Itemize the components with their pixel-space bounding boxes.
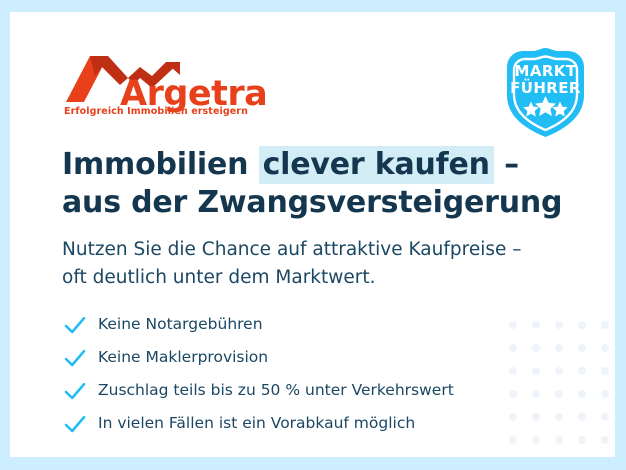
decorative-dot — [532, 321, 540, 329]
decorative-dot — [578, 390, 586, 398]
decorative-dot — [578, 436, 586, 444]
decorative-dot — [601, 436, 609, 444]
list-item: In vielen Fällen ist ein Vorabkauf mögli… — [64, 409, 454, 439]
subheadline: Nutzen Sie die Chance auf attraktive Kau… — [62, 236, 522, 292]
headline-line-2: aus der Zwangsversteigerung — [62, 184, 562, 222]
decorative-dot — [555, 367, 563, 375]
decorative-dot — [509, 344, 517, 352]
dot-grid-decoration — [497, 307, 615, 457]
decorative-dot — [532, 436, 540, 444]
list-item-label: In vielen Fällen ist ein Vorabkauf mögli… — [98, 416, 415, 432]
check-icon — [64, 315, 86, 335]
check-icon — [64, 381, 86, 401]
decorative-dot — [532, 413, 540, 421]
list-item: Zuschlag teils bis zu 50 % unter Verkehr… — [64, 376, 454, 406]
decorative-dot — [509, 436, 517, 444]
decorative-dot — [509, 390, 517, 398]
subheadline-line-2: oft deutlich unter dem Marktwert. — [62, 264, 522, 292]
list-item-label: Keine Notargebühren — [98, 317, 263, 333]
headline-highlight: clever kaufen — [259, 146, 494, 184]
market-leader-badge: MARKT FÜHRER — [497, 45, 594, 140]
decorative-dot — [578, 367, 586, 375]
decorative-dot — [578, 344, 586, 352]
decorative-dot — [555, 413, 563, 421]
decorative-dot — [509, 413, 517, 421]
decorative-dot — [578, 321, 586, 329]
decorative-dot — [509, 321, 517, 329]
decorative-dot — [532, 390, 540, 398]
headline-suffix: – — [494, 147, 519, 182]
decorative-dot — [555, 321, 563, 329]
decorative-dot — [555, 436, 563, 444]
headline-prefix: Immobilien — [62, 147, 259, 182]
decorative-dot — [601, 413, 609, 421]
decorative-dot — [532, 367, 540, 375]
subheadline-line-1: Nutzen Sie die Chance auf attraktive Kau… — [62, 236, 522, 264]
decorative-dot — [601, 367, 609, 375]
decorative-dot — [555, 344, 563, 352]
decorative-dot — [578, 413, 586, 421]
benefits-list: Keine Notargebühren Keine Maklerprovisio… — [64, 310, 454, 442]
decorative-dot — [555, 390, 563, 398]
decorative-dot — [509, 367, 517, 375]
advertisement-card: Argetra Erfolgreich Immobilien ersteiger… — [10, 12, 615, 457]
argetra-logo[interactable]: Argetra Erfolgreich Immobilien ersteiger… — [62, 54, 262, 120]
check-icon — [64, 348, 86, 368]
list-item-label: Zuschlag teils bis zu 50 % unter Verkehr… — [98, 383, 454, 399]
decorative-dot — [532, 344, 540, 352]
decorative-dot — [601, 344, 609, 352]
check-icon — [64, 414, 86, 434]
decorative-dot — [601, 390, 609, 398]
list-item: Keine Notargebühren — [64, 310, 454, 340]
shield-badge-icon — [497, 45, 594, 140]
headline-line-1: Immobilien clever kaufen – — [62, 146, 562, 184]
logo-tagline: Erfolgreich Immobilien ersteigern — [64, 106, 248, 117]
page-title: Immobilien clever kaufen – aus der Zwang… — [62, 146, 562, 223]
list-item: Keine Maklerprovision — [64, 343, 454, 373]
decorative-dot — [601, 321, 609, 329]
list-item-label: Keine Maklerprovision — [98, 350, 268, 366]
